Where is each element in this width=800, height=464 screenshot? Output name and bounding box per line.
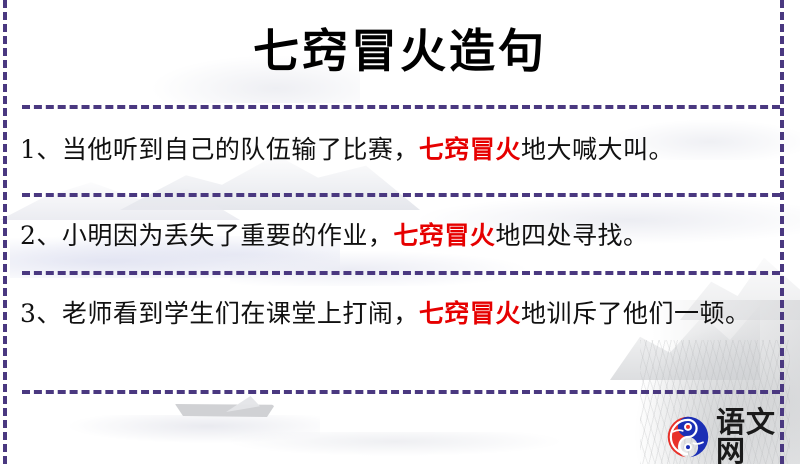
watermark-water-bottom [230,432,560,456]
sentence-item: 1、当他听到自己的队伍输了比赛，七窍冒火地大喊大叫。 [20,128,780,171]
worksheet-page: 七窍冒火造句 1、当他听到自己的队伍输了比赛，七窍冒火地大喊大叫。 2、小明因为… [0,0,800,464]
sentence-index: 2、 [20,221,62,250]
dashed-rule-1 [22,105,780,109]
sentence-text-after: 地训斥了他们一顿。 [521,299,751,328]
sentence-item: 2、小明因为丢失了重要的作业，七窍冒火地四处寻找。 [20,214,780,257]
dashed-rule-4 [22,390,780,394]
sentence-index: 3、 [20,299,62,328]
sentence-text-before: 当他听到自己的队伍输了比赛， [62,135,419,164]
sentence-text-before: 老师看到学生们在课堂上打闹， [62,299,419,328]
idiom-highlight: 七窍冒火 [393,221,495,250]
watermark-water-wake [70,415,320,443]
site-logo[interactable]: 语文网 [666,408,800,464]
dashed-rule-2 [22,193,780,197]
sentence-text-after: 地四处寻找。 [495,221,648,250]
dashed-rule-3 [22,271,780,275]
page-title: 七窍冒火造句 [0,22,800,80]
sentence-index: 1、 [20,135,62,164]
idiom-highlight: 七窍冒火 [419,299,521,328]
yinyang-fish-circle-icon [666,415,710,459]
sentence-text-after: 地大喊大叫。 [521,135,674,164]
watermark-boat-hull [175,404,275,417]
site-logo-text: 语文网 [716,408,800,464]
sentence-item: 3、老师看到学生们在课堂上打闹，七窍冒火地训斥了他们一顿。 [20,292,780,335]
watermark-boat-sail [226,396,260,412]
idiom-highlight: 七窍冒火 [419,135,521,164]
sentence-text-before: 小明因为丢失了重要的作业， [62,221,394,250]
